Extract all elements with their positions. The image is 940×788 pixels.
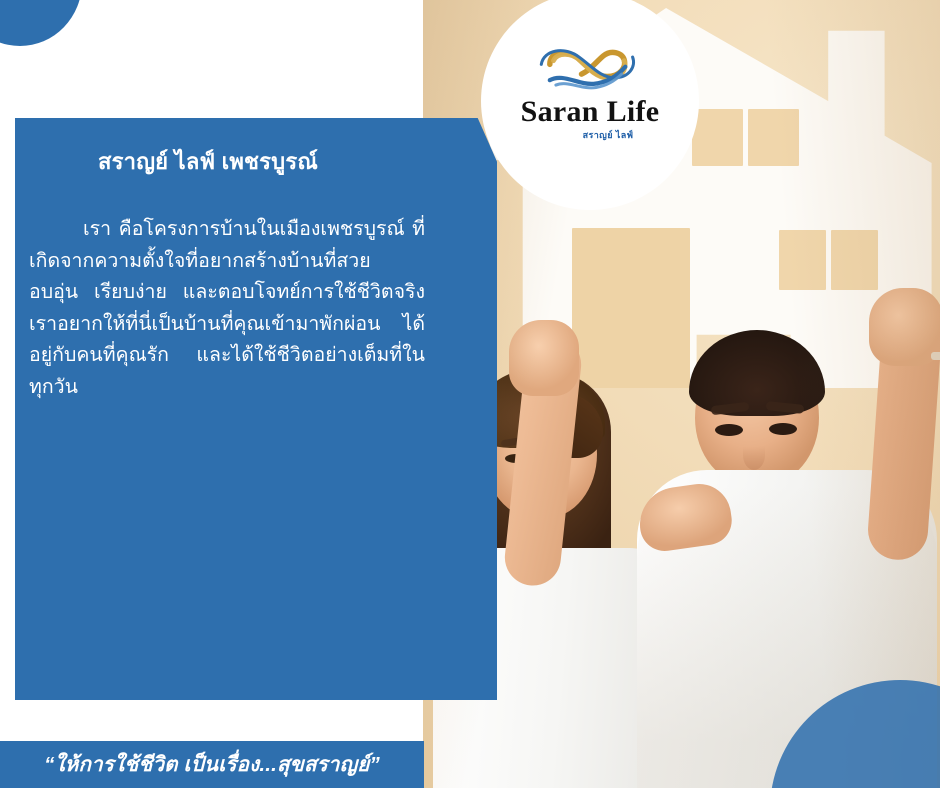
tagline-bar: “ให้การใช้ชีวิต เป็นเรื่อง...สุขสราญย์” xyxy=(0,741,424,788)
logo-lockup: Saran Life สราญย์ ไลฟ์ xyxy=(481,40,699,142)
decor-circle-top-left xyxy=(0,0,82,46)
promo-poster: สราญย์ ไลฟ์ เพชรบูรณ์ เรา คือโครงการบ้าน… xyxy=(0,0,940,788)
logo-badge: Saran Life สราญย์ ไลฟ์ xyxy=(481,0,699,210)
logo-wordmark-thai: สราญย์ ไลฟ์ xyxy=(547,128,634,142)
page-title: สราญย์ ไลฟ์ เพชรบูรณ์ xyxy=(15,144,401,179)
info-panel: สราญย์ ไลฟ์ เพชรบูรณ์ เรา คือโครงการบ้าน… xyxy=(15,118,497,700)
tagline-text: “ให้การใช้ชีวิต เป็นเรื่อง...สุขสราญย์” xyxy=(44,748,380,781)
logo-wordmark: Saran Life xyxy=(521,97,660,127)
panel-body-text: เรา คือโครงการบ้านในเมืองเพชรบูรณ์ ที่เก… xyxy=(29,214,425,403)
infinity-wave-logo-icon xyxy=(528,40,652,96)
panel-body-paragraph: เรา คือโครงการบ้านในเมืองเพชรบูรณ์ ที่เก… xyxy=(29,218,425,398)
